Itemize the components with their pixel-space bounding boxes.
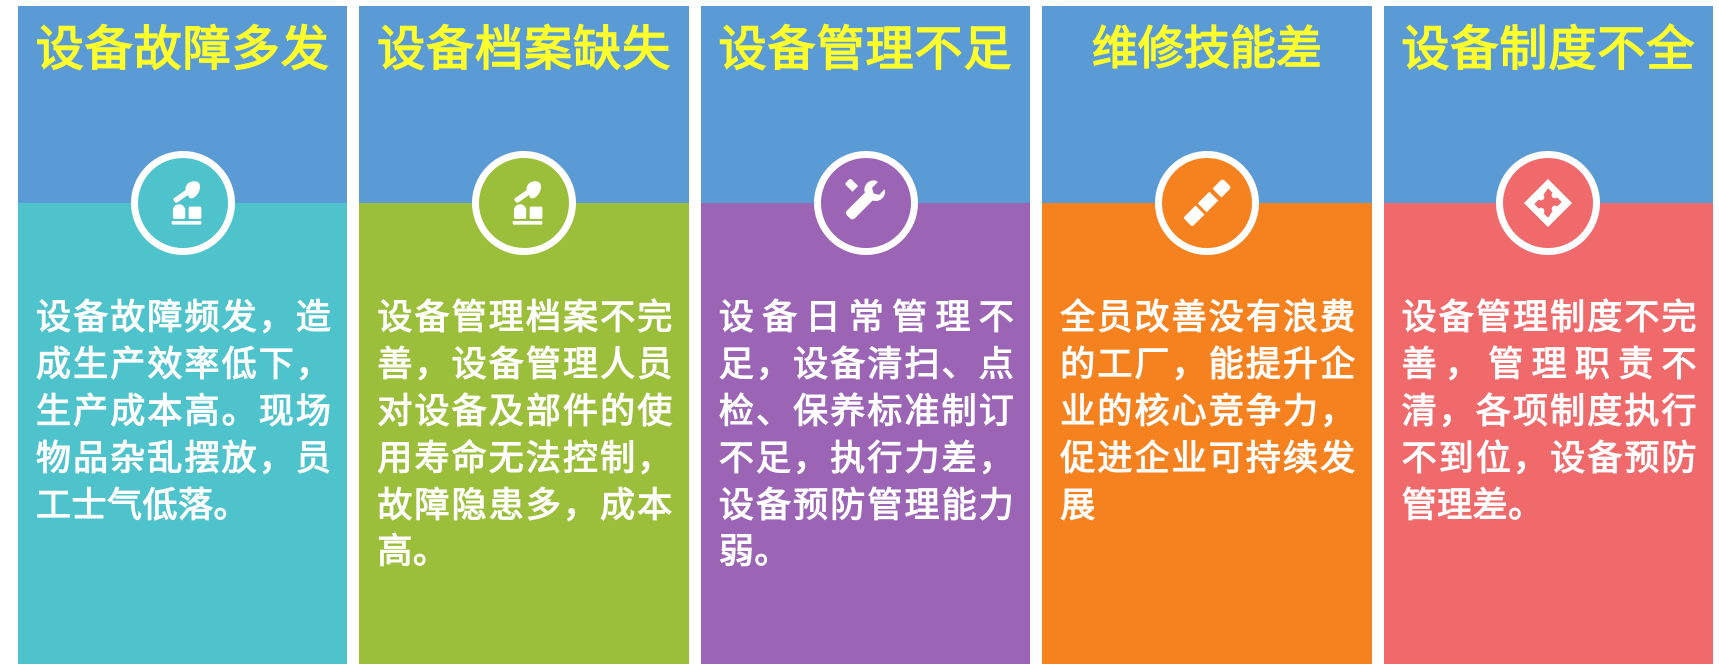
column-title: 设备制度不全: [1401, 24, 1695, 76]
column-body-2: 设备管理档案不完善，设备管理人员对设备及部件的使用寿命无法控制，故障隐患多，成本…: [359, 203, 688, 664]
problem-column-5: 设备制度不全设备管理制度不完善，管理职责不清，各项制度执行不到位，设备预防管理差…: [1384, 6, 1713, 664]
column-title: 设备管理不足: [719, 24, 1013, 76]
gramophone-icon: [131, 151, 235, 255]
column-body-5: 设备管理制度不完善，管理职责不清，各项制度执行不到位，设备预防管理差。: [1384, 203, 1713, 664]
column-description: 设备管理制度不完善，管理职责不清，各项制度执行不到位，设备预防管理差。: [1402, 295, 1697, 529]
column-description: 全员改善没有浪费的工厂，能提升企业的核心竞争力，促进企业可持续发展: [1060, 295, 1355, 529]
column-body-1: 设备故障频发，造成生产效率低下，生产成本高。现场物品杂乱摆放，员工士气低落。: [18, 203, 347, 664]
problem-column-2: 设备档案缺失设备管理档案不完善，设备管理人员对设备及部件的使用寿命无法控制，故障…: [359, 6, 688, 664]
column-description: 设备管理档案不完善，设备管理人员对设备及部件的使用寿命无法控制，故障隐患多，成本…: [377, 295, 672, 576]
wrench-screwdriver-icon: [814, 151, 918, 255]
poster-board: 设备故障多发设备故障频发，造成生产效率低下，生产成本高。现场物品杂乱摆放，员工士…: [0, 0, 1719, 664]
column-title: 维修技能差: [1092, 24, 1322, 74]
column-title: 设备档案缺失: [377, 24, 671, 76]
problem-column-1: 设备故障多发设备故障频发，造成生产效率低下，生产成本高。现场物品杂乱摆放，员工士…: [18, 6, 347, 664]
problem-column-3: 设备管理不足设备日常管理不足，设备清扫、点检、保养标准制订不足，执行力差，设备预…: [701, 6, 1030, 664]
column-body-4: 全员改善没有浪费的工厂，能提升企业的核心竞争力，促进企业可持续发展: [1042, 203, 1371, 664]
column-title: 设备故障多发: [36, 24, 330, 76]
problem-column-4: 维修技能差全员改善没有浪费的工厂，能提升企业的核心竞争力，促进企业可持续发展: [1042, 6, 1371, 664]
column-body-3: 设备日常管理不足，设备清扫、点检、保养标准制订不足，执行力差，设备预防管理能力弱…: [701, 203, 1030, 664]
gramophone-icon: [472, 151, 576, 255]
column-description: 设备故障频发，造成生产效率低下，生产成本高。现场物品杂乱摆放，员工士气低落。: [36, 295, 331, 529]
column-description: 设备日常管理不足，设备清扫、点检、保养标准制订不足，执行力差，设备预防管理能力弱…: [719, 295, 1014, 576]
paintbrush-icon: [1155, 151, 1259, 255]
ticket-tag-icon: [1496, 151, 1600, 255]
